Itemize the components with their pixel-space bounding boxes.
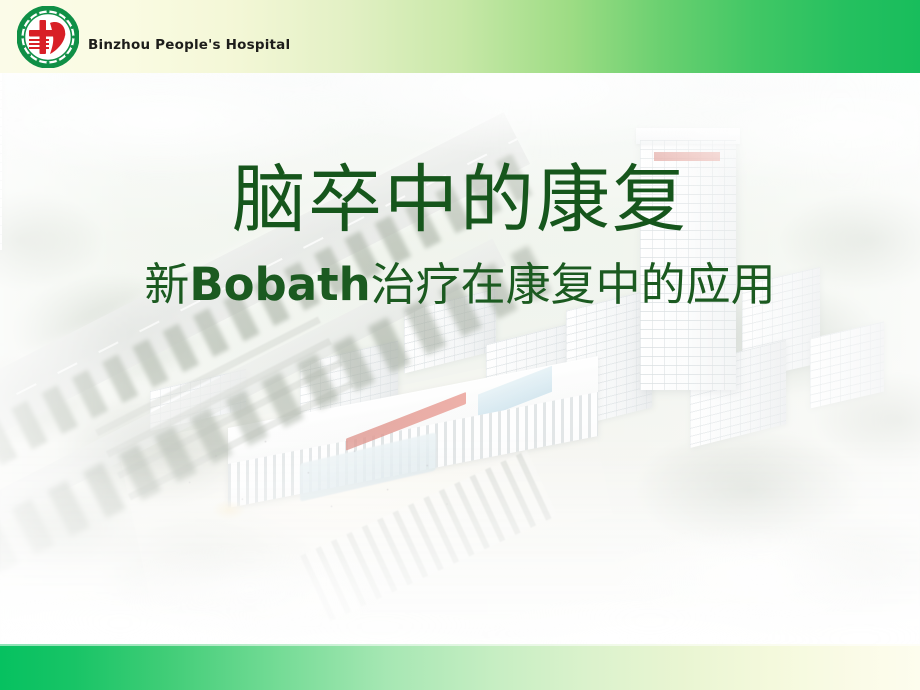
page-subtitle: 新Bobath治疗在康复中的应用 [0,261,920,308]
slide-header-bar: Binzhou People's Hospital [0,0,920,73]
footer-hairline [0,644,920,646]
title-slide: Binzhou People's Hospital 脑卒中的康复 新Bobath… [0,0,920,690]
subtitle-prefix: 新 [144,258,189,311]
hospital-cross-dove-logo [17,6,79,68]
hospital-name-label: Binzhou People's Hospital [88,37,290,53]
page-title: 脑卒中的康复 [0,163,920,238]
subtitle-suffix: 治疗在康复中的应用 [371,258,776,311]
aerial-hospital-campus-photo [0,0,920,690]
subtitle-latin-term: Bobath [189,258,370,311]
slide-footer-bar [0,644,920,690]
